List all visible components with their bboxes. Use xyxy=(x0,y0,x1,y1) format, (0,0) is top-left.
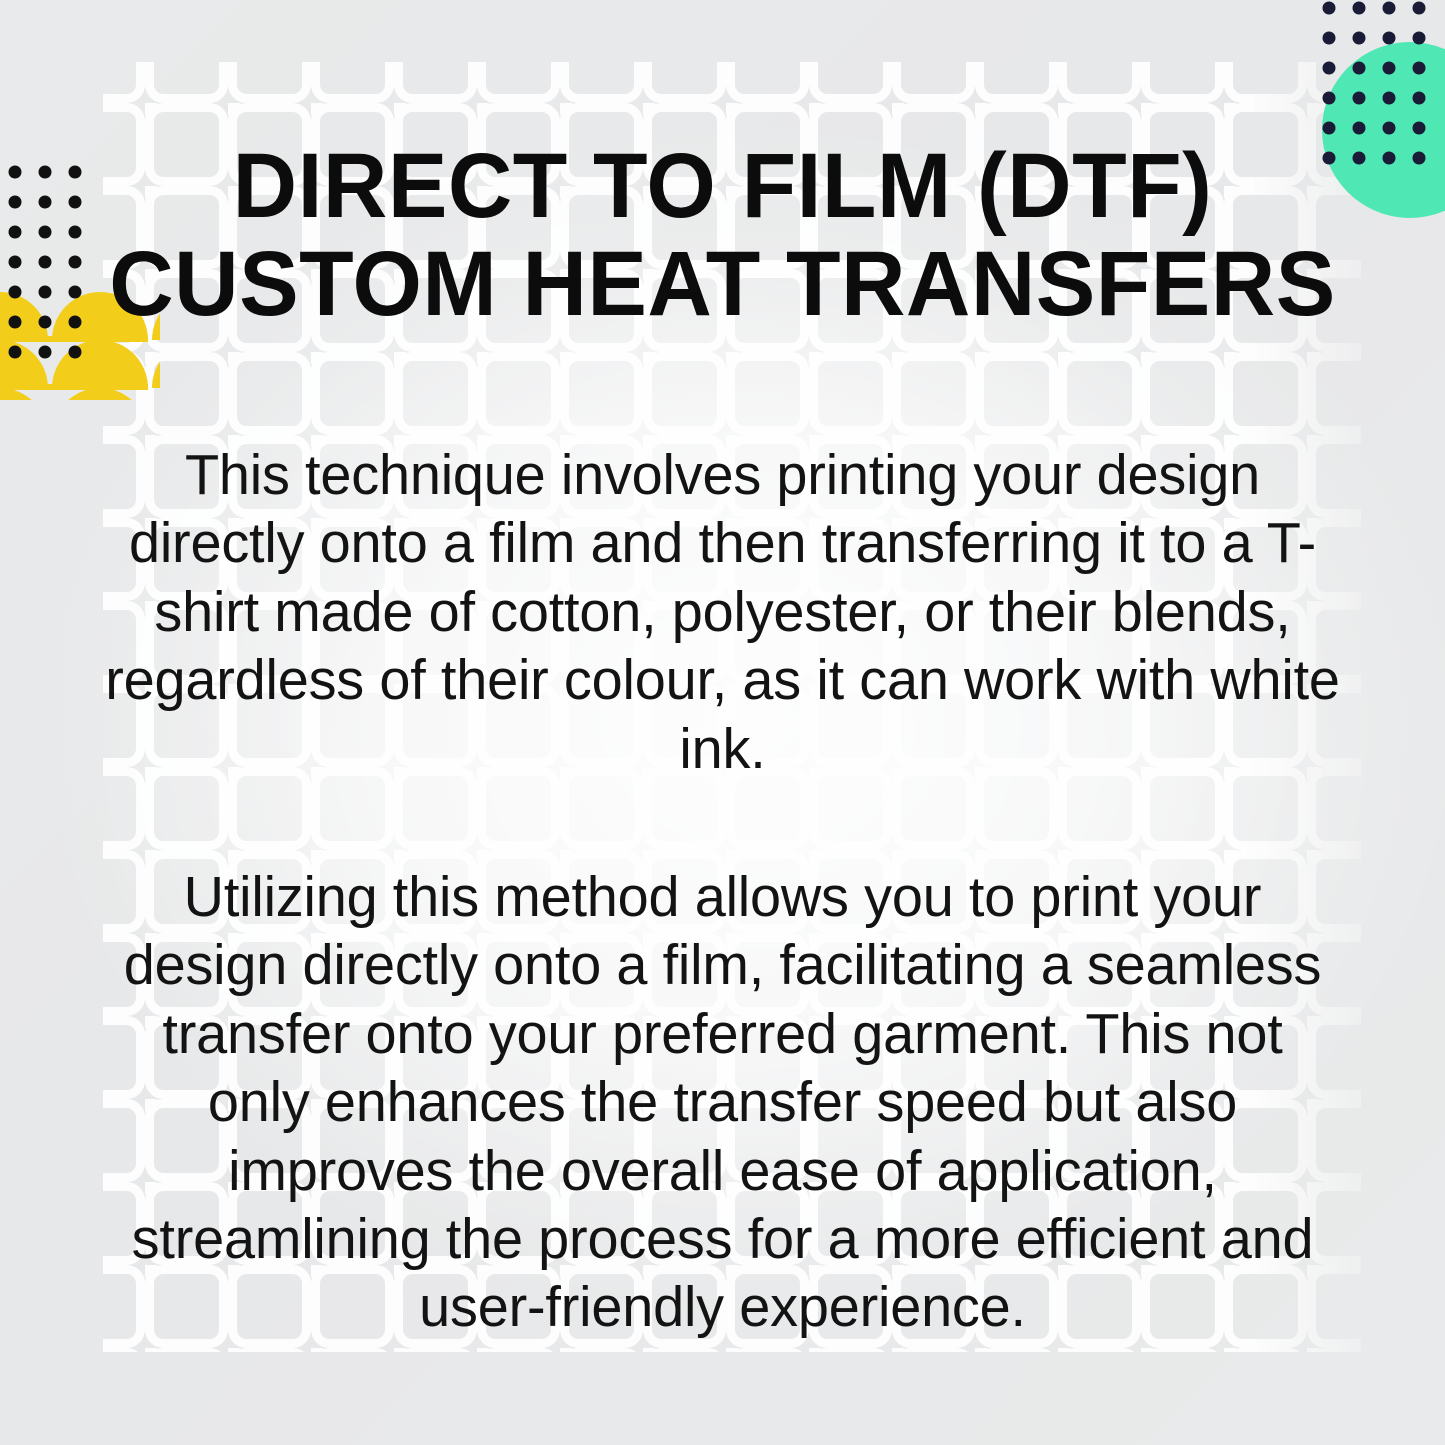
page-title: DIRECT TO FILM (DTF) CUSTOM HEAT TRANSFE… xyxy=(22,138,1424,333)
page-title-line-2: CUSTOM HEAT TRANSFERS xyxy=(90,236,1356,334)
page-title-line-1: DIRECT TO FILM (DTF) xyxy=(90,138,1356,236)
body-copy: This technique involves printing your de… xyxy=(0,441,1445,1342)
paragraph-2: Utilizing this method allows you to prin… xyxy=(105,863,1341,1342)
paragraph-1: This technique involves printing your de… xyxy=(105,441,1341,783)
poster-canvas: DIRECT TO FILM (DTF) CUSTOM HEAT TRANSFE… xyxy=(0,0,1445,1445)
poster-content: DIRECT TO FILM (DTF) CUSTOM HEAT TRANSFE… xyxy=(0,0,1445,1445)
